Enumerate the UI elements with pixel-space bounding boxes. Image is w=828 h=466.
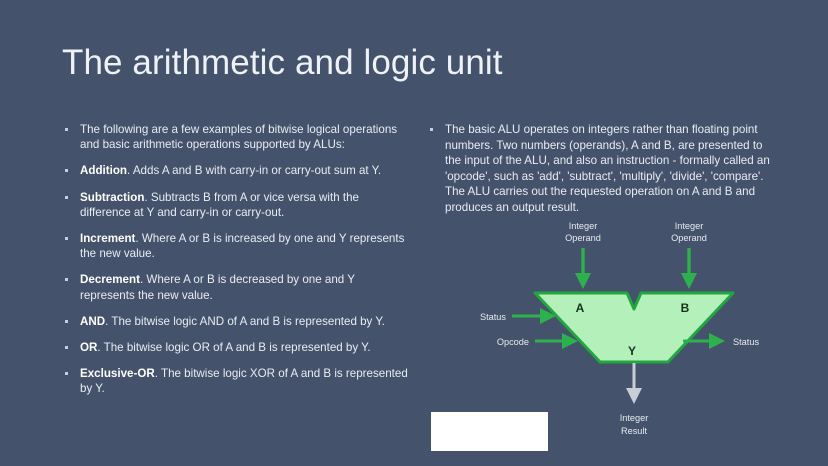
bullet-text: . The bitwise logic AND of A and B is re… (105, 315, 385, 328)
left-text-column: The following are a few examples of bitw… (62, 122, 412, 408)
bullet-lead: Exclusive-OR (80, 367, 155, 380)
bullet-lead: Addition (80, 164, 127, 177)
bullet-item-exclusive-or: Exclusive-OR. The bitwise logic XOR of A… (62, 366, 412, 396)
alu-pin-a: A (576, 301, 585, 315)
input-arrow-operand-b-icon (681, 248, 697, 289)
label-integer-operand-right-line2: Operand (671, 233, 707, 243)
alu-pin-b: B (681, 301, 690, 315)
slide-canvas: The arithmetic and logic unit The follow… (0, 0, 828, 466)
input-arrow-operand-a-icon (575, 248, 591, 289)
bullet-lead: OR (80, 341, 97, 354)
alu-pin-y: Y (628, 344, 636, 358)
bullet-item-increment: Increment. Where A or B is increased by … (62, 231, 412, 261)
bullet-item-subtraction: Subtraction. Subtracts B from A or vice … (62, 190, 412, 220)
bullet-lead: AND (80, 315, 105, 328)
bullet-item-intro: The following are a few examples of bitw… (62, 122, 412, 152)
bullet-lead: Decrement (80, 273, 140, 286)
right-text-column: The basic ALU operates on integers rathe… (427, 122, 772, 227)
bullet-lead: Subtraction (80, 191, 144, 204)
blank-placeholder-box[interactable] (431, 412, 548, 451)
bullet-item-decrement: Decrement. Where A or B is decreased by … (62, 272, 412, 302)
label-integer-operand-left-line1: Integer (569, 221, 598, 231)
bullet-text: The following are a few examples of bitw… (80, 123, 397, 151)
bullet-item-or: OR. The bitwise logic OR of A and B is r… (62, 340, 412, 355)
label-status-output: Status (733, 337, 759, 347)
bullet-text: . The bitwise logic OR of A and B is rep… (97, 341, 370, 354)
bullet-lead: Increment (80, 232, 135, 245)
bullet-item-and: AND. The bitwise logic AND of A and B is… (62, 314, 412, 329)
bullet-item-alu-overview: The basic ALU operates on integers rathe… (427, 122, 772, 216)
output-arrow-integer-result-icon (626, 363, 642, 404)
label-integer-operand-left-line2: Operand (565, 233, 601, 243)
page-title: The arithmetic and logic unit (62, 44, 503, 83)
bullet-item-addition: Addition. Adds A and B with carry-in or … (62, 163, 412, 178)
bullet-text: . Adds A and B with carry-in or carry-ou… (127, 164, 381, 177)
label-status-input: Status (480, 312, 506, 322)
label-integer-operand-right-line1: Integer (675, 221, 704, 231)
label-opcode-input: Opcode (497, 337, 529, 347)
label-integer-result-line1: Integer (620, 413, 649, 423)
label-integer-result-line2: Result (621, 426, 647, 436)
bullet-text: The basic ALU operates on integers rathe… (445, 123, 770, 214)
input-arrow-opcode-icon (535, 333, 578, 349)
